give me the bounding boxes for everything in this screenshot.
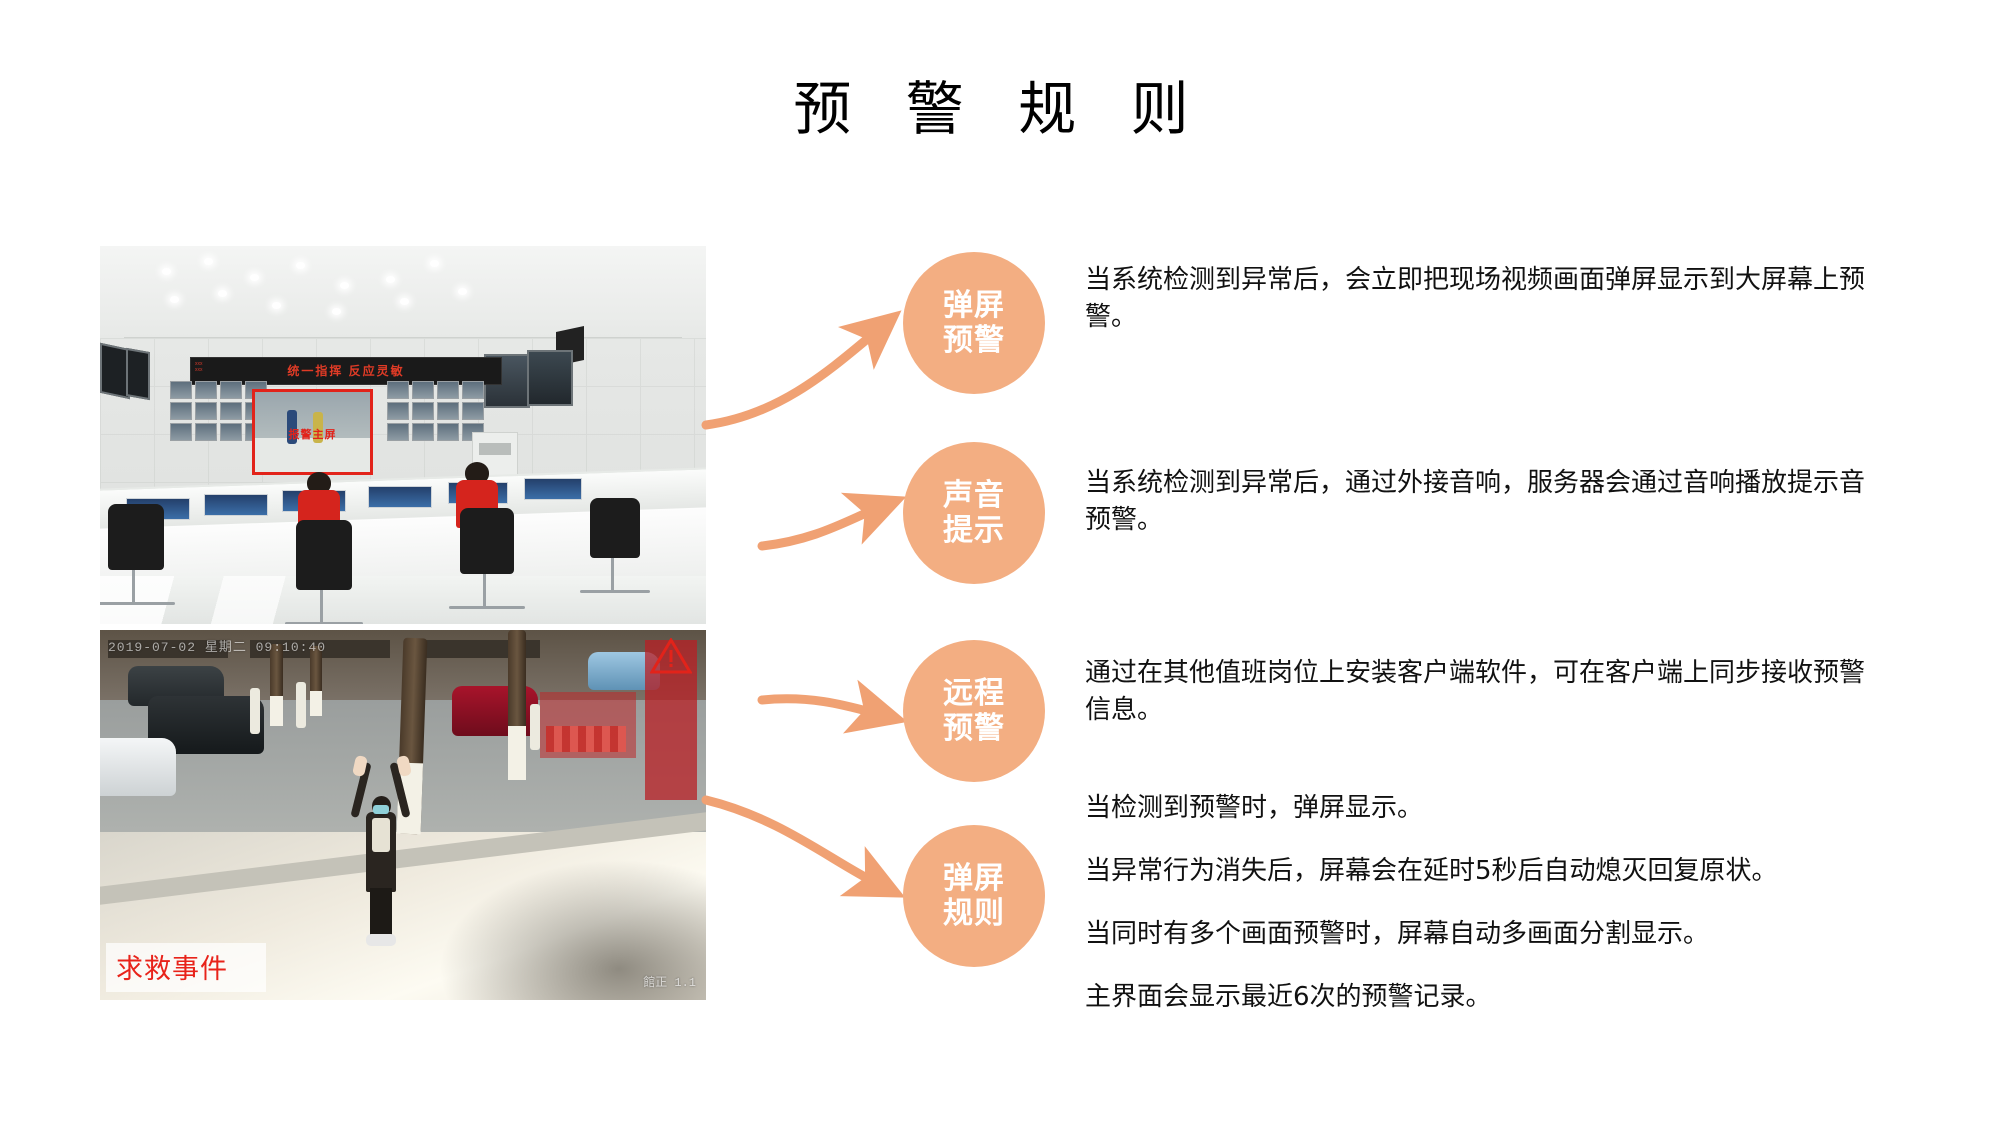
office-chair [590, 498, 640, 558]
arrow-to-bullet-screen-alert [706, 330, 878, 425]
node-remote-alert[interactable]: 远程 预警 [903, 640, 1045, 782]
wall-monitor [170, 381, 192, 399]
ceiling-light [332, 308, 341, 315]
node-label-line1: 弹屏 [943, 861, 1005, 896]
wall-monitor [220, 402, 242, 420]
event-tag-label: 求救事件 [116, 954, 228, 985]
description-line: 通过在其他值班岗位上安装客户端软件，可在客户端上同步接收预警信息。 [1085, 655, 1885, 729]
wall-monitor [412, 381, 434, 399]
floor [100, 576, 706, 624]
wall-monitor [462, 402, 484, 420]
ceiling-light [340, 282, 349, 289]
event-tag: 求救事件 [106, 943, 266, 992]
node-label-line2: 预警 [943, 711, 1005, 746]
arrow-to-bullet-screen-rule [706, 800, 878, 884]
wall-monitor [387, 381, 409, 399]
wall-monitor [170, 423, 192, 441]
office-chair [296, 520, 352, 590]
ceiling [100, 246, 706, 338]
side-monitor [527, 350, 573, 406]
ceiling-light [458, 288, 467, 295]
arrow-to-remote-alert [762, 699, 878, 714]
wall-monitor [195, 402, 217, 420]
alarm-main-screen: 报警主屏 [252, 389, 373, 475]
person-waving-for-help [346, 756, 416, 954]
person-shoes [366, 934, 396, 946]
description-line: 当同时有多个画面预警时，屏幕自动多画面分割显示。 [1085, 916, 1885, 953]
wall-monitor [387, 402, 409, 420]
warning-triangle-icon [650, 638, 690, 672]
wall-monitor [220, 423, 242, 441]
node-label-line1: 弹屏 [943, 288, 1005, 323]
description-line: 主界面会显示最近6次的预警记录。 [1085, 979, 1885, 1016]
camera-corner-code: 館正 1.1 [643, 973, 696, 990]
node-sound-prompt[interactable]: 声音 提示 [903, 442, 1045, 584]
slide-root: 预 警 规 则 xxxxxx [0, 0, 2000, 1125]
description-line: 当异常行为消失后，屏幕会在延时5秒后自动熄灭回复原状。 [1085, 853, 1885, 890]
bollard [296, 682, 306, 728]
control-room-scene: xxxxxx 统一指挥 反应灵敏 [100, 246, 706, 624]
node-label-line2: 规则 [943, 896, 1005, 931]
page-title: 预 警 规 则 [0, 62, 2000, 146]
desk-display [524, 478, 582, 500]
wall-monitor [387, 423, 409, 441]
ceiling-light [170, 296, 179, 303]
parked-car [100, 738, 176, 796]
bollard [530, 704, 540, 750]
wall-monitor [437, 423, 459, 441]
photo-control-room: xxxxxx 统一指挥 反应灵敏 [100, 246, 706, 624]
node-label-line2: 提示 [943, 513, 1005, 548]
ceiling-light [204, 258, 213, 265]
description-bullet-screen-rule: 当检测到预警时，弹屏显示。 当异常行为消失后，屏幕会在延时5秒后自动熄灭回复原状… [1085, 790, 1885, 1016]
ceiling-light [386, 276, 395, 283]
ceiling-light [218, 290, 227, 297]
person-face-mask [373, 805, 389, 814]
person-legs [370, 888, 392, 936]
alarm-main-screen-label: 报警主屏 [255, 426, 370, 442]
wall-monitor [412, 423, 434, 441]
office-chair [460, 508, 514, 574]
wall-monitor [412, 402, 434, 420]
ceiling-light [272, 302, 281, 309]
description-remote-alert: 通过在其他值班岗位上安装客户端软件，可在客户端上同步接收预警信息。 [1085, 655, 1885, 729]
street-stall [540, 692, 636, 758]
node-label-line2: 预警 [943, 323, 1005, 358]
wall-monitor [437, 402, 459, 420]
arrow-to-sound-prompt [762, 508, 878, 546]
ceiling-light [250, 274, 259, 281]
street-scene: 2019-07-02 星期二 09:10:40 館正 1.1 求救事件 [100, 630, 706, 1000]
wall-monitor [437, 381, 459, 399]
side-monitor [126, 348, 150, 400]
wall-monitor [462, 381, 484, 399]
ceiling-light [162, 268, 171, 275]
street-tree [270, 644, 283, 726]
wall-monitor [195, 381, 217, 399]
led-banner-text: 统一指挥 反应灵敏 [191, 362, 501, 379]
node-bullet-screen-alert[interactable]: 弹屏 预警 [903, 252, 1045, 394]
office-chair [108, 504, 164, 570]
desk-display [204, 494, 268, 516]
description-line: 当系统检测到异常后，会立即把现场视频画面弹屏显示到大屏幕上预警。 [1085, 262, 1885, 336]
node-bullet-screen-rule[interactable]: 弹屏 规则 [903, 825, 1045, 967]
wall-monitor [195, 423, 217, 441]
node-label-line1: 远程 [943, 676, 1005, 711]
description-bullet-screen-alert: 当系统检测到异常后，会立即把现场视频画面弹屏显示到大屏幕上预警。 [1085, 262, 1885, 336]
description-sound-prompt: 当系统检测到异常后，通过外接音响，服务器会通过音响播放提示音预警。 [1085, 465, 1885, 539]
camera-timestamp: 2019-07-02 星期二 09:10:40 [108, 636, 326, 655]
ceiling-light [430, 260, 439, 267]
bollard [250, 688, 260, 734]
street-tree [310, 646, 322, 716]
desk-display [368, 486, 432, 508]
description-line: 当检测到预警时，弹屏显示。 [1085, 790, 1885, 827]
wall-monitor [170, 402, 192, 420]
photo-street-camera: 2019-07-02 星期二 09:10:40 館正 1.1 求救事件 [100, 630, 706, 1000]
node-label-line1: 声音 [943, 478, 1005, 513]
ceiling-light [296, 262, 305, 269]
monitor-wall-right [387, 381, 484, 441]
description-line: 当系统检测到异常后，通过外接音响，服务器会通过音响播放提示音预警。 [1085, 465, 1885, 539]
screen-ground [255, 438, 370, 472]
wall-monitor [220, 381, 242, 399]
street-tree [508, 630, 526, 780]
person-scarf [372, 818, 390, 852]
ceiling-light [400, 298, 409, 305]
